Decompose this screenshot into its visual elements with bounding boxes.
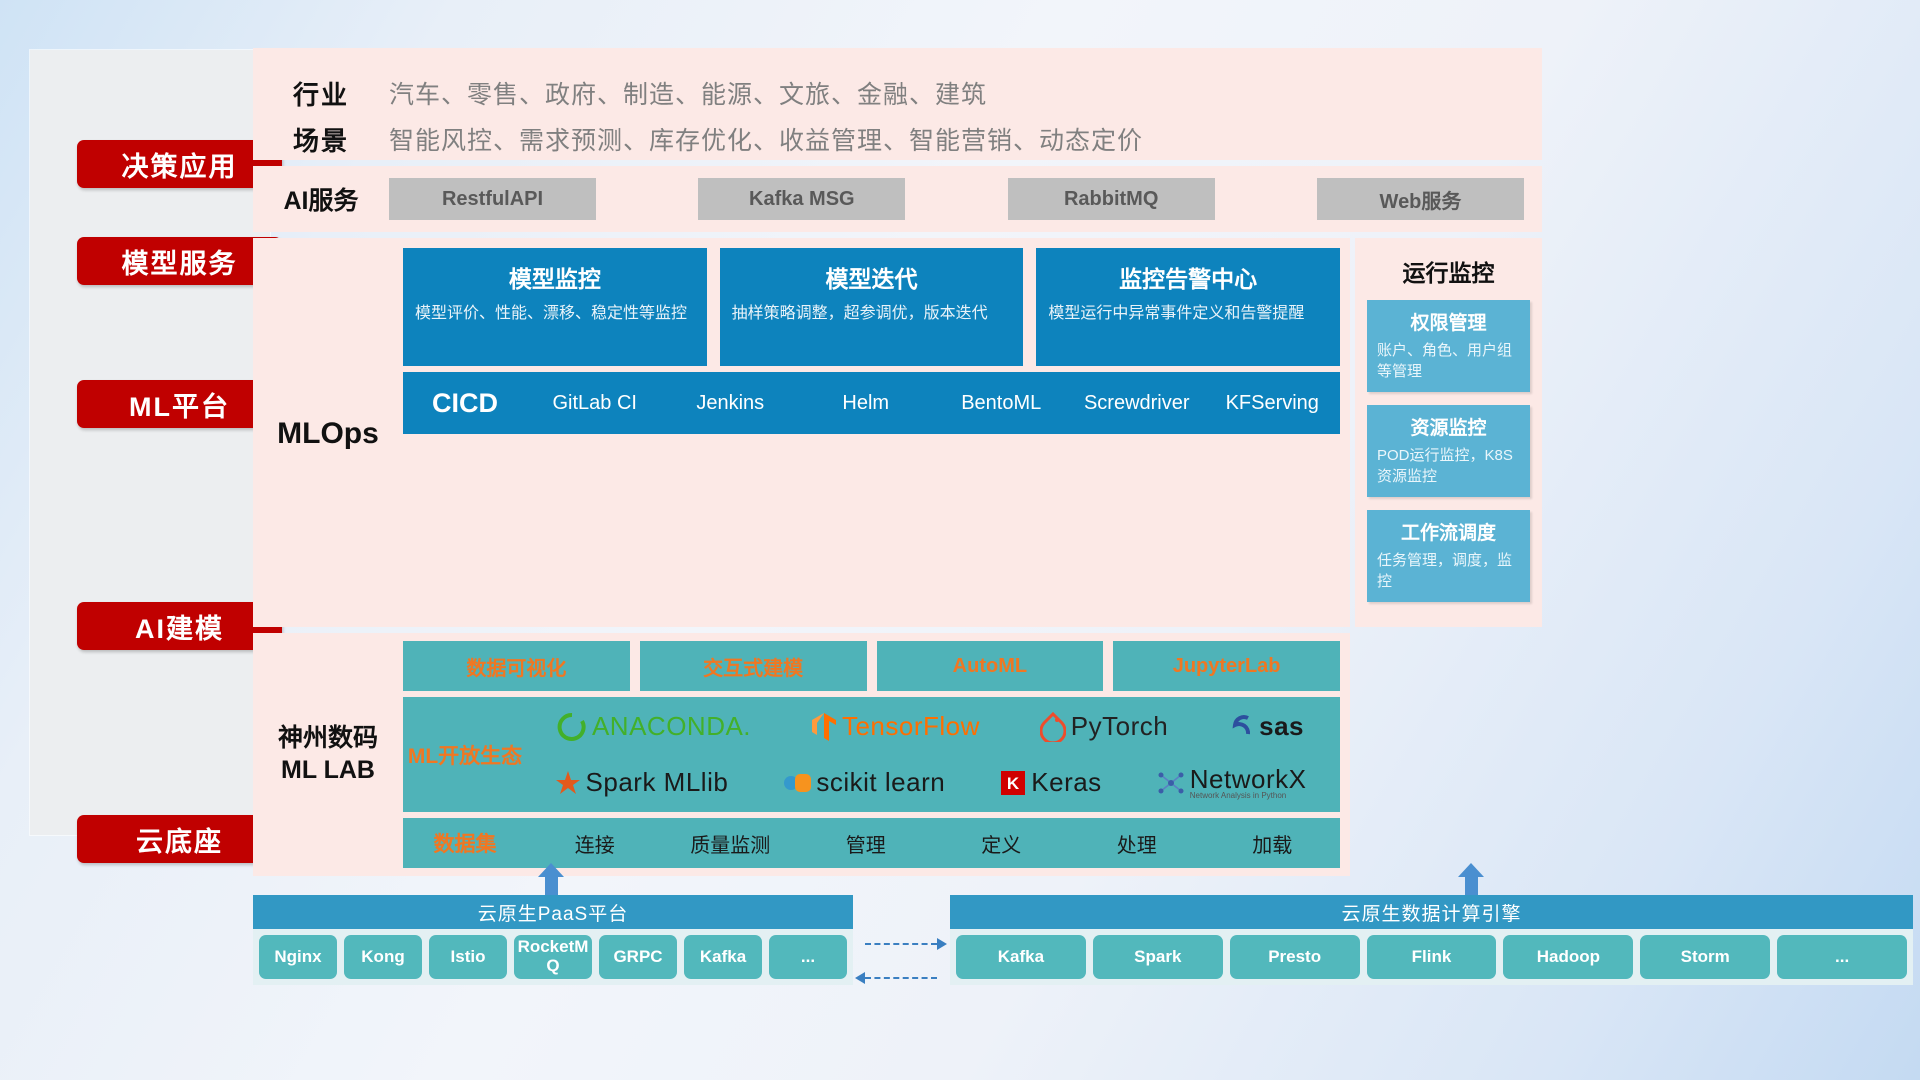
spark-star-icon [555, 770, 581, 796]
engine-stack: 云原生数据计算引擎 Kafka Spark Presto Flink Hadoo… [950, 895, 1913, 985]
industry-scenario-band: 行业 汽车、零售、政府、制造、能源、文旅、金融、建筑 场景 智能风控、需求预测、… [253, 48, 1542, 160]
tensorflow-icon [811, 712, 837, 742]
logo-networkx: NetworkX Network Analysis in Python [1157, 766, 1307, 800]
ml-lab-label-line2: ML LAB [281, 755, 375, 786]
ai-service-item-rabbitmq[interactable]: RabbitMQ [1008, 178, 1215, 220]
paas-chip-nginx[interactable]: Nginx [259, 935, 337, 979]
rail-label: AI建模 [135, 607, 224, 646]
ai-service-item-web[interactable]: Web服务 [1317, 178, 1524, 220]
rail-item-model-service[interactable]: 模型服务 [77, 237, 282, 285]
connector-arrow-right-icon [937, 938, 947, 950]
ml-lab-tabs: 数据可视化 交互式建模 AutoML JupyterLab [403, 641, 1340, 691]
dataset-item-define[interactable]: 定义 [934, 829, 1070, 858]
engine-chips: Kafka Spark Presto Flink Hadoop Storm ..… [950, 929, 1913, 985]
dataset-item-quality[interactable]: 质量监测 [663, 829, 799, 858]
dataset-items: 连接 质量监测 管理 定义 处理 加载 [527, 829, 1340, 858]
ml-ecosystem-label: ML开放生态 [403, 740, 527, 770]
logo-tensorflow: TensorFlow [811, 711, 980, 742]
diagram-root: 决策应用 模型服务 ML平台 AI建模 云底座 行业 汽车、零售、政府、制造、能… [0, 0, 1920, 1080]
sas-icon [1228, 713, 1254, 741]
paas-chip-kafka[interactable]: Kafka [684, 935, 762, 979]
ai-service-item-kafka-msg[interactable]: Kafka MSG [698, 178, 905, 220]
scenario-row: 场景 智能风控、需求预测、库存优化、收益管理、智能营销、动态定价 [253, 120, 1542, 158]
dataset-strip: 数据集 连接 质量监测 管理 定义 处理 加载 [403, 818, 1340, 868]
networkx-icon [1157, 770, 1185, 796]
ml-lab-label-line1: 神州数码 [278, 723, 378, 754]
rail-label: ML平台 [129, 385, 230, 424]
card-desc: 模型评价、性能、漂移、稳定性等监控 [415, 302, 695, 325]
logo-row-1: ANACONDA. TensorFlow [527, 699, 1334, 755]
paas-chip-rocketmq[interactable]: RocketMQ [514, 935, 592, 979]
dataset-item-process[interactable]: 处理 [1069, 829, 1205, 858]
cicd-items: GitLab CI Jenkins Helm BentoML Screwdriv… [527, 392, 1340, 415]
card-title: 监控告警中心 [1048, 260, 1328, 294]
cicd-item-helm[interactable]: Helm [798, 392, 934, 415]
paas-stack: 云原生PaaS平台 Nginx Kong Istio RocketMQ GRPC… [253, 895, 853, 985]
logo-label: PyTorch [1071, 711, 1168, 742]
logo-label: NetworkX [1190, 766, 1307, 792]
industry-value: 汽车、零售、政府、制造、能源、文旅、金融、建筑 [389, 75, 987, 111]
lab-row-spacer [1355, 633, 1542, 876]
scenario-value: 智能风控、需求预测、库存优化、收益管理、智能营销、动态定价 [389, 121, 1143, 157]
logo-scikit-learn: scikit learn [783, 767, 945, 798]
ml-lab-label: 神州数码 ML LAB [253, 641, 403, 868]
run-monitor-title: 运行监控 [1367, 254, 1530, 288]
dataset-item-load[interactable]: 加载 [1205, 829, 1341, 858]
card-desc: 抽样策略调整，超参调优，版本迭代 [732, 302, 1012, 325]
engine-chip-spark[interactable]: Spark [1093, 935, 1223, 979]
engine-chip-hadoop[interactable]: Hadoop [1503, 935, 1633, 979]
mlops-cards: 模型监控 模型评价、性能、漂移、稳定性等监控 模型迭代 抽样策略调整，超参调优，… [403, 248, 1340, 366]
rail-label: 模型服务 [122, 242, 238, 281]
rail-item-decision-app[interactable]: 决策应用 [77, 140, 282, 188]
rail-item-ai-modeling[interactable]: AI建模 [77, 602, 282, 650]
paas-chip-grpc[interactable]: GRPC [599, 935, 677, 979]
paas-chip-more[interactable]: ... [769, 935, 847, 979]
engine-chip-storm[interactable]: Storm [1640, 935, 1770, 979]
connector-arrow-left-icon [855, 972, 865, 984]
left-rail: 决策应用 模型服务 ML平台 AI建模 云底座 [30, 50, 270, 835]
tab-interactive-modeling[interactable]: 交互式建模 [640, 641, 867, 691]
networkx-subtitle: Network Analysis in Python [1190, 792, 1307, 800]
anaconda-icon [557, 712, 587, 742]
rail-label: 云底座 [136, 820, 223, 859]
ai-service-label: AI服务 [253, 181, 389, 217]
engine-chip-more[interactable]: ... [1777, 935, 1907, 979]
scenario-label: 场景 [253, 121, 389, 158]
ai-service-band: AI服务 RestfulAPI Kafka MSG RabbitMQ Web服务 [253, 166, 1542, 232]
logo-label: scikit learn [816, 767, 945, 798]
engine-chip-presto[interactable]: Presto [1230, 935, 1360, 979]
connector-dashed-top [865, 943, 937, 945]
paas-chips: Nginx Kong Istio RocketMQ GRPC Kafka ... [253, 929, 853, 985]
cicd-item-bentoml[interactable]: BentoML [934, 392, 1070, 415]
main-column: 行业 汽车、零售、政府、制造、能源、文旅、金融、建筑 场景 智能风控、需求预测、… [253, 48, 1542, 876]
tab-automl[interactable]: AutoML [877, 641, 1104, 691]
card-title: 资源监控 [1377, 413, 1520, 440]
mlops-card-alert-center[interactable]: 监控告警中心 模型运行中异常事件定义和告警提醒 [1036, 248, 1340, 366]
cloud-base-section: 云原生PaaS平台 Nginx Kong Istio RocketMQ GRPC… [253, 895, 1913, 1060]
logo-spark-mllib: Spark MLlib [555, 767, 729, 798]
rail-label: 决策应用 [122, 145, 238, 184]
logo-anaconda: ANACONDA. [557, 711, 751, 742]
cicd-item-screwdriver[interactable]: Screwdriver [1069, 392, 1205, 415]
mlops-content: 模型监控 模型评价、性能、漂移、稳定性等监控 模型迭代 抽样策略调整，超参调优，… [403, 248, 1350, 619]
logo-pytorch: PyTorch [1040, 711, 1168, 742]
ml-lab-band: 神州数码 ML LAB 数据可视化 交互式建模 AutoML JupyterLa… [253, 633, 1350, 876]
dataset-item-manage[interactable]: 管理 [798, 829, 934, 858]
paas-chip-istio[interactable]: Istio [429, 935, 507, 979]
run-monitor-card-permission[interactable]: 权限管理 账户、角色、用户组等管理 [1367, 300, 1530, 392]
arrow-up-engine-icon [1458, 863, 1484, 897]
run-monitor-card-resource[interactable]: 资源监控 POD运行监控，K8S资源监控 [1367, 405, 1530, 497]
tab-data-visualization[interactable]: 数据可视化 [403, 641, 630, 691]
pytorch-icon [1040, 712, 1066, 742]
card-title: 权限管理 [1377, 308, 1520, 335]
logo-label: sas [1259, 711, 1304, 742]
logo-label: Spark MLlib [586, 767, 729, 798]
logo-keras: K Keras [1000, 767, 1101, 798]
dataset-title: 数据集 [403, 828, 527, 858]
logo-label: TensorFlow [842, 711, 980, 742]
rail-item-ml-platform[interactable]: ML平台 [77, 380, 282, 428]
connector-dashed-bottom [865, 977, 937, 979]
cicd-item-gitlab-ci[interactable]: GitLab CI [527, 392, 663, 415]
mlops-row: MLOps 模型监控 模型评价、性能、漂移、稳定性等监控 模型迭代 抽样策略调整… [253, 238, 1542, 627]
cicd-strip: CICD GitLab CI Jenkins Helm BentoML Scre… [403, 372, 1340, 434]
svg-text:K: K [1007, 774, 1020, 793]
card-title: 模型迭代 [732, 260, 1012, 294]
ml-ecosystem-logos: ANACONDA. TensorFlow [527, 699, 1340, 811]
industry-row: 行业 汽车、零售、政府、制造、能源、文旅、金融、建筑 [253, 74, 1542, 112]
card-desc: 模型运行中异常事件定义和告警提醒 [1048, 302, 1328, 325]
mlops-band: MLOps 模型监控 模型评价、性能、漂移、稳定性等监控 模型迭代 抽样策略调整… [253, 238, 1350, 627]
run-monitor-card-workflow[interactable]: 工作流调度 任务管理，调度，监控 [1367, 510, 1530, 602]
ml-lab-row: 神州数码 ML LAB 数据可视化 交互式建模 AutoML JupyterLa… [253, 633, 1542, 876]
card-title: 工作流调度 [1377, 518, 1520, 545]
keras-icon: K [1000, 770, 1026, 796]
cicd-item-jenkins[interactable]: Jenkins [663, 392, 799, 415]
arrow-up-paas-icon [538, 863, 564, 897]
card-title: 模型监控 [415, 260, 695, 294]
engine-chip-flink[interactable]: Flink [1367, 935, 1497, 979]
mlops-label: MLOps [253, 248, 403, 619]
logo-row-2: Spark MLlib scikit learn [527, 755, 1334, 811]
paas-chip-kong[interactable]: Kong [344, 935, 422, 979]
engine-title-bar: 云原生数据计算引擎 [950, 895, 1913, 929]
paas-title-bar: 云原生PaaS平台 [253, 895, 853, 929]
ai-service-list: RestfulAPI Kafka MSG RabbitMQ Web服务 [389, 178, 1542, 220]
ml-lab-content: 数据可视化 交互式建模 AutoML JupyterLab ML开放生态 [403, 641, 1350, 868]
mlops-card-model-monitor[interactable]: 模型监控 模型评价、性能、漂移、稳定性等监控 [403, 248, 707, 366]
logo-label: ANACONDA. [592, 711, 751, 742]
cicd-title: CICD [403, 388, 527, 419]
networkx-wordmark: NetworkX Network Analysis in Python [1190, 766, 1307, 800]
tab-jupyterlab[interactable]: JupyterLab [1113, 641, 1340, 691]
ml-ecosystem-strip: ML开放生态 ANACONDA. [403, 697, 1340, 812]
cicd-item-kfserving[interactable]: KFServing [1205, 392, 1341, 415]
ai-service-item-restfulapi[interactable]: RestfulAPI [389, 178, 596, 220]
card-desc: POD运行监控，K8S资源监控 [1377, 445, 1520, 487]
logo-sas: sas [1228, 711, 1304, 742]
logo-label: Keras [1031, 767, 1101, 798]
engine-chip-kafka[interactable]: Kafka [956, 935, 1086, 979]
run-monitor-panel: 运行监控 权限管理 账户、角色、用户组等管理 资源监控 POD运行监控，K8S资… [1355, 238, 1542, 627]
card-desc: 账户、角色、用户组等管理 [1377, 340, 1520, 382]
mlops-card-model-iteration[interactable]: 模型迭代 抽样策略调整，超参调优，版本迭代 [720, 248, 1024, 366]
scikit-learn-icon [783, 771, 811, 795]
card-desc: 任务管理，调度，监控 [1377, 550, 1520, 592]
dataset-item-connect[interactable]: 连接 [527, 829, 663, 858]
rail-item-cloud-base[interactable]: 云底座 [77, 815, 282, 863]
industry-label: 行业 [253, 75, 389, 112]
